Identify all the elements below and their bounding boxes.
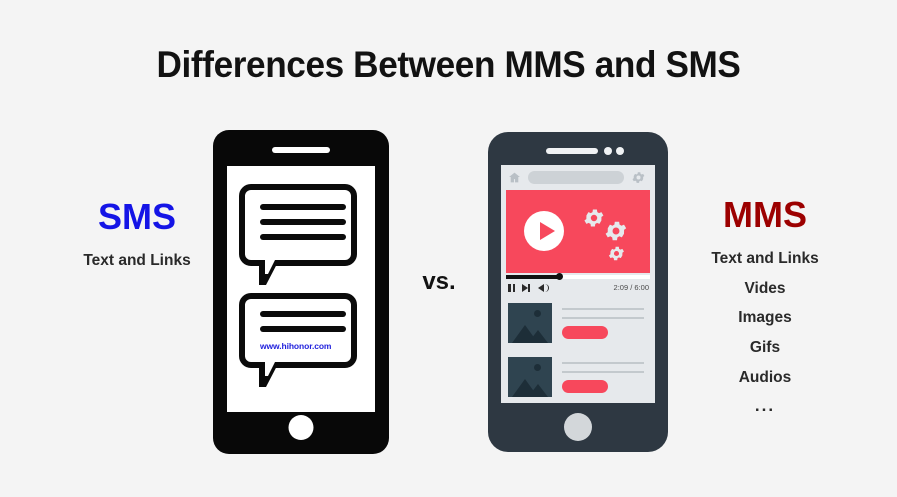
page-title: Differences Between MMS and SMS (22, 44, 874, 86)
text-line (260, 234, 346, 240)
mms-feature-item: Text and Links (650, 244, 880, 274)
gear-icon (607, 244, 626, 263)
text-line (260, 219, 346, 225)
speech-bubble-text (239, 184, 357, 266)
volume-icon[interactable] (538, 284, 549, 302)
video-controls: 2:09 / 6:00 (506, 283, 650, 295)
text-line (562, 371, 644, 373)
mms-feature-item: ... (650, 393, 880, 419)
sms-phone-mockup: www.hihonor.com (213, 130, 389, 454)
sun-dot (534, 310, 541, 317)
home-button-icon[interactable] (289, 415, 314, 440)
versus-label: vs. (404, 268, 474, 296)
hihonor-link[interactable]: www.hihonor.com (260, 341, 352, 351)
browser-toolbar (501, 165, 655, 190)
list-item[interactable] (506, 357, 650, 403)
url-input[interactable] (528, 171, 624, 184)
text-line (260, 326, 346, 332)
sensor-dot-icon (616, 147, 624, 155)
pause-icon[interactable] (508, 284, 517, 302)
mountain-shape (528, 384, 548, 397)
mms-heading: MMS (650, 196, 880, 234)
video-progress-bar[interactable] (506, 275, 650, 279)
mms-feature-item: Vides (650, 274, 880, 304)
home-icon[interactable] (508, 171, 521, 184)
mms-feature-item: Audios (650, 363, 880, 393)
gear-icon[interactable] (631, 170, 646, 185)
image-placeholder-icon (508, 303, 552, 343)
action-button[interactable] (562, 326, 608, 339)
mms-feature-item: Gifs (650, 333, 880, 363)
text-line (562, 362, 644, 364)
text-line (260, 311, 346, 317)
text-line (562, 317, 644, 319)
mountain-shape (528, 330, 548, 343)
sun-dot (534, 364, 541, 371)
mms-label-group: MMS Text and Links Vides Images Gifs Aud… (650, 196, 880, 418)
mms-feature-list: Text and Links Vides Images Gifs Audios … (650, 244, 880, 418)
text-line (562, 308, 644, 310)
text-line (260, 204, 346, 210)
list-item[interactable] (506, 303, 650, 351)
speech-bubble-link: www.hihonor.com (239, 293, 357, 368)
play-icon[interactable] (524, 211, 564, 251)
video-timecode: 2:09 / 6:00 (614, 283, 649, 292)
progress-handle[interactable] (556, 273, 563, 280)
speaker-slot-icon (272, 147, 330, 153)
next-track-icon[interactable] (522, 284, 530, 302)
progress-fill (506, 275, 559, 279)
bubble-tail-icon (259, 260, 279, 285)
mms-feature-item: Images (650, 303, 880, 333)
mms-phone-mockup: 2:09 / 6:00 (488, 132, 668, 452)
image-placeholder-icon (508, 357, 552, 397)
mms-phone-screen: 2:09 / 6:00 (501, 165, 655, 403)
play-triangle (540, 222, 555, 240)
camera-dot-icon (604, 147, 612, 155)
bubble-tail-icon (259, 362, 279, 387)
action-button[interactable] (562, 380, 608, 393)
gear-icon (603, 218, 629, 244)
home-button-icon[interactable] (564, 413, 592, 441)
sms-phone-screen: www.hihonor.com (227, 166, 375, 412)
video-player[interactable] (506, 190, 650, 273)
infographic-canvas: Differences Between MMS and SMS SMS Text… (0, 0, 897, 497)
speaker-slot-icon (546, 148, 598, 154)
